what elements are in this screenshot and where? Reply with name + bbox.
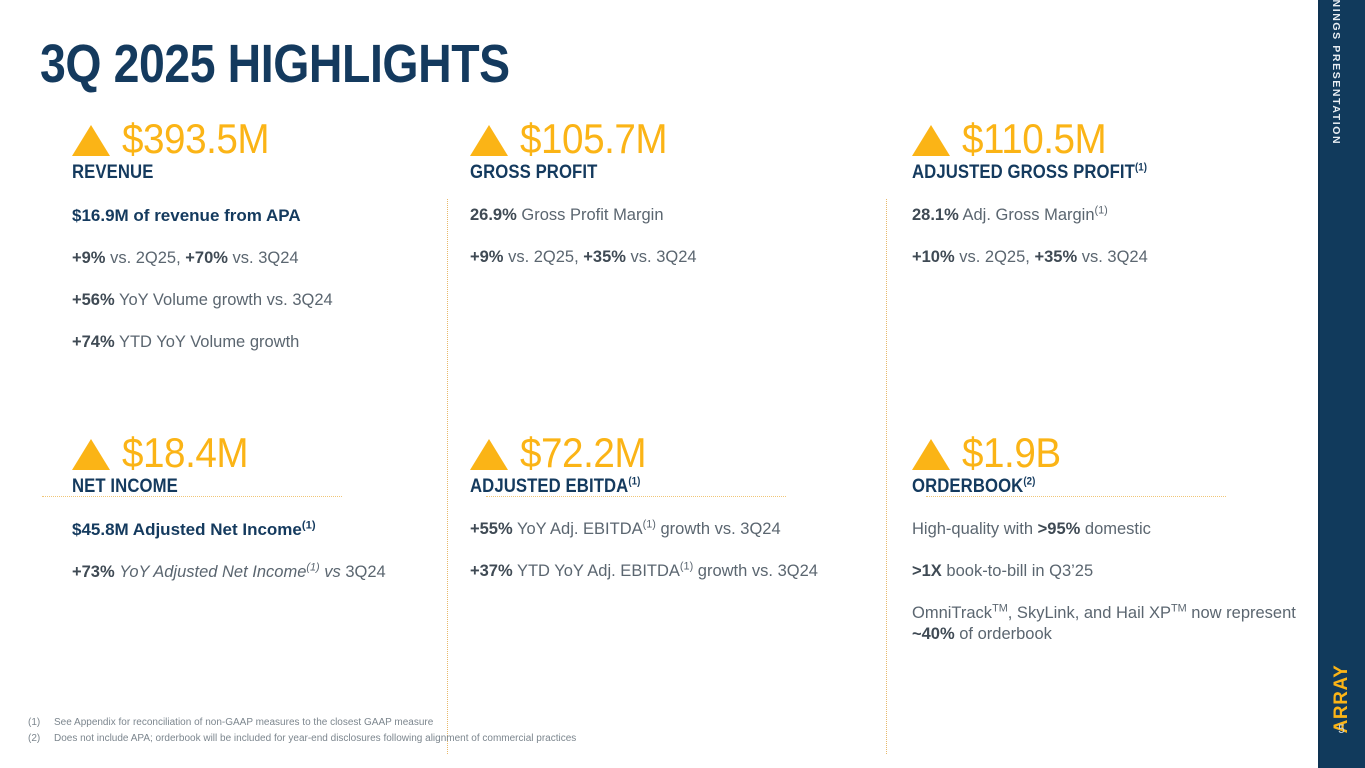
page-number: 5	[1318, 722, 1365, 736]
metric-detail-line: OmniTrackTM, SkyLink, and Hail XPTM now …	[912, 603, 1302, 645]
metric-detail-line: +74% YTD YoY Volume growth	[72, 332, 462, 353]
footnote-row: (1) See Appendix for reconciliation of n…	[28, 715, 576, 731]
slide-canvas: 3Q 2025 HIGHLIGHTS $393.5M REVENUE $16.9…	[0, 0, 1365, 768]
metric-value: $393.5M	[122, 118, 269, 160]
sidebar-accent-stripe	[1318, 0, 1320, 768]
right-sidebar: 3Q25 EARNNINGS PRESENTATION ARRAY 5	[1318, 0, 1365, 768]
footnotes: (1) See Appendix for reconciliation of n…	[28, 715, 576, 746]
metric-detail-line: +37% YTD YoY Adj. EBITDA(1) growth vs. 3…	[470, 561, 860, 582]
metric-detail-line: +9% vs. 2Q25, +35% vs. 3Q24	[470, 247, 860, 268]
metric-value: $72.2M	[520, 432, 646, 474]
metric-label: ORDERBOOK(2)	[912, 476, 1282, 499]
up-triangle-icon	[470, 125, 508, 156]
metric-value: $1.9B	[962, 432, 1061, 474]
metric-detail-line: High-quality with >95% domestic	[912, 519, 1302, 540]
metric-details: +55% YoY Adj. EBITDA(1) growth vs. 3Q24+…	[470, 519, 890, 582]
metric-detail-line: >1X book-to-bill in Q3’25	[912, 561, 1302, 582]
metric-details: $16.9M of revenue from APA+9% vs. 2Q25, …	[72, 205, 492, 353]
up-triangle-icon	[72, 125, 110, 156]
metric-details: $45.8M Adjusted Net Income(1)+73% YoY Ad…	[72, 519, 492, 583]
metric-label: REVENUE	[72, 162, 442, 185]
metric-card-gross-profit: $105.7M GROSS PROFIT 26.9% Gross Profit …	[470, 114, 890, 289]
footnote-row: (2) Does not include APA; orderbook will…	[28, 731, 576, 747]
up-triangle-icon	[470, 439, 508, 470]
metric-value-row: $393.5M	[72, 114, 492, 160]
metric-detail-line: +10% vs. 2Q25, +35% vs. 3Q24	[912, 247, 1302, 268]
metric-value-row: $72.2M	[470, 428, 890, 474]
metric-value-row: $1.9B	[912, 428, 1332, 474]
footnote-number: (1)	[28, 715, 54, 731]
metric-detail-line: $45.8M Adjusted Net Income(1)	[72, 519, 462, 541]
metric-value-row: $105.7M	[470, 114, 890, 160]
metrics-grid: $393.5M REVENUE $16.9M of revenue from A…	[0, 104, 1318, 664]
metric-detail-line: +56% YoY Volume growth vs. 3Q24	[72, 290, 462, 311]
footnote-number: (2)	[28, 731, 54, 747]
metric-value: $18.4M	[122, 432, 248, 474]
metric-card-revenue: $393.5M REVENUE $16.9M of revenue from A…	[72, 114, 492, 374]
metric-card-adjusted-gross-profit: $110.5M ADJUSTED GROSS PROFIT(1) 28.1% A…	[912, 114, 1332, 289]
metric-label: ADJUSTED EBITDA(1)	[470, 476, 840, 499]
metric-detail-line: 28.1% Adj. Gross Margin(1)	[912, 205, 1302, 226]
up-triangle-icon	[912, 439, 950, 470]
footnote-text: See Appendix for reconciliation of non-G…	[54, 715, 433, 731]
metric-details: 28.1% Adj. Gross Margin(1)+10% vs. 2Q25,…	[912, 205, 1332, 268]
metric-card-net-income: $18.4M NET INCOME $45.8M Adjusted Net In…	[72, 428, 492, 604]
metric-card-adjusted-ebitda: $72.2M ADJUSTED EBITDA(1) +55% YoY Adj. …	[470, 428, 890, 603]
metric-detail-line: +73% YoY Adjusted Net Income(1) vs 3Q24	[72, 562, 462, 583]
metric-value-row: $110.5M	[912, 114, 1332, 160]
metric-detail-line: 26.9% Gross Profit Margin	[470, 205, 860, 226]
sidebar-deck-caption: 3Q25 EARNNINGS PRESENTATION	[1330, 0, 1342, 145]
footnote-text: Does not include APA; orderbook will be …	[54, 731, 576, 747]
metric-label: ADJUSTED GROSS PROFIT(1)	[912, 162, 1282, 185]
metric-value: $110.5M	[962, 118, 1106, 160]
metric-value-row: $18.4M	[72, 428, 492, 474]
metric-details: 26.9% Gross Profit Margin+9% vs. 2Q25, +…	[470, 205, 890, 268]
up-triangle-icon	[72, 439, 110, 470]
up-triangle-icon	[912, 125, 950, 156]
metric-detail-line: +55% YoY Adj. EBITDA(1) growth vs. 3Q24	[470, 519, 860, 540]
metric-label: GROSS PROFIT	[470, 162, 840, 185]
metric-card-orderbook: $1.9B ORDERBOOK(2) High-quality with >95…	[912, 428, 1332, 666]
metric-detail-line: +9% vs. 2Q25, +70% vs. 3Q24	[72, 248, 462, 269]
metric-detail-line: $16.9M of revenue from APA	[72, 205, 462, 227]
metric-value: $105.7M	[520, 118, 667, 160]
page-title: 3Q 2025 HIGHLIGHTS	[40, 36, 510, 93]
metric-details: High-quality with >95% domestic>1X book-…	[912, 519, 1332, 645]
metric-label: NET INCOME	[72, 476, 442, 499]
